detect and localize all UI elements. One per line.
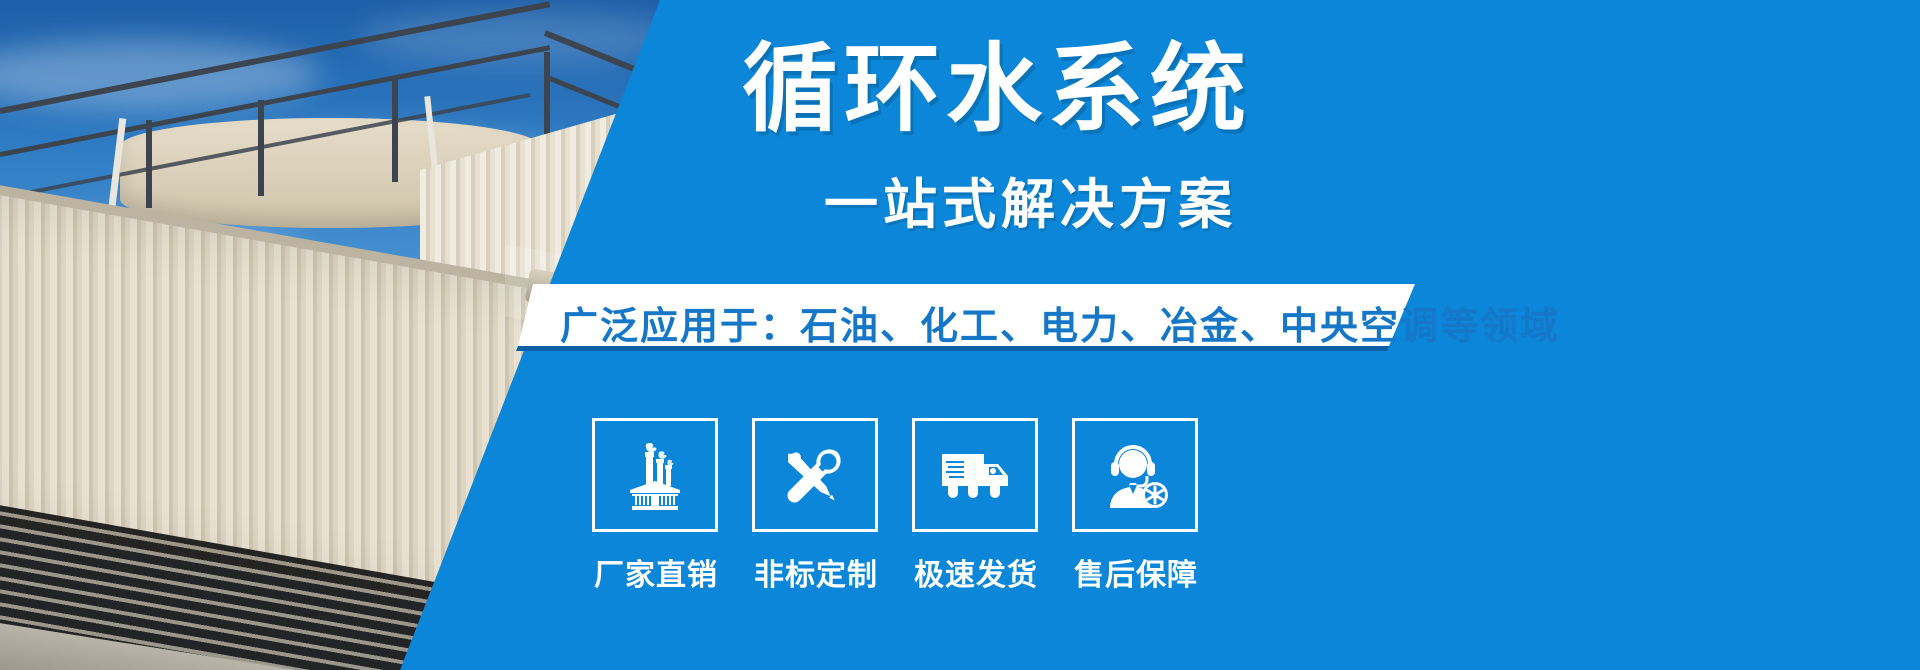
banner-title: 循环水系统 bbox=[742, 38, 1382, 142]
handrail-post bbox=[258, 100, 264, 196]
cloud-shape bbox=[360, 10, 680, 65]
applications-text: 广泛应用于：石油、化工、电力、冶金、中央空调等领域 bbox=[560, 295, 1390, 350]
feature-icon-box bbox=[592, 418, 718, 532]
promo-banner: 循环水系统 一站式解决方案 广泛应用于：石油、化工、电力、冶金、中央空调等领域 bbox=[0, 0, 1920, 670]
headset-icon bbox=[1098, 438, 1172, 512]
feature-label: 非标定制 bbox=[752, 550, 880, 594]
feature-icon-box bbox=[1072, 418, 1198, 532]
feature-icon-box bbox=[752, 418, 878, 532]
handrail-post bbox=[146, 120, 152, 208]
handrail-post bbox=[392, 78, 398, 182]
feature-label: 极速发货 bbox=[912, 550, 1040, 594]
feature-item-support[interactable]: 售后保障 bbox=[1072, 418, 1200, 594]
banner-subtitle: 一站式解决方案 bbox=[824, 160, 1237, 239]
feature-item-shipping[interactable]: 极速发货 bbox=[912, 418, 1040, 594]
tools-icon bbox=[777, 437, 853, 513]
truck-icon bbox=[934, 444, 1016, 506]
feature-label: 售后保障 bbox=[1072, 550, 1200, 594]
feature-list: 厂家直销 非标定制 bbox=[592, 418, 1200, 594]
feature-item-custom[interactable]: 非标定制 bbox=[752, 418, 880, 594]
feature-item-factory[interactable]: 厂家直销 bbox=[592, 418, 720, 594]
feature-icon-box bbox=[912, 418, 1038, 532]
feature-label: 厂家直销 bbox=[592, 550, 720, 594]
factory-icon bbox=[616, 438, 694, 512]
